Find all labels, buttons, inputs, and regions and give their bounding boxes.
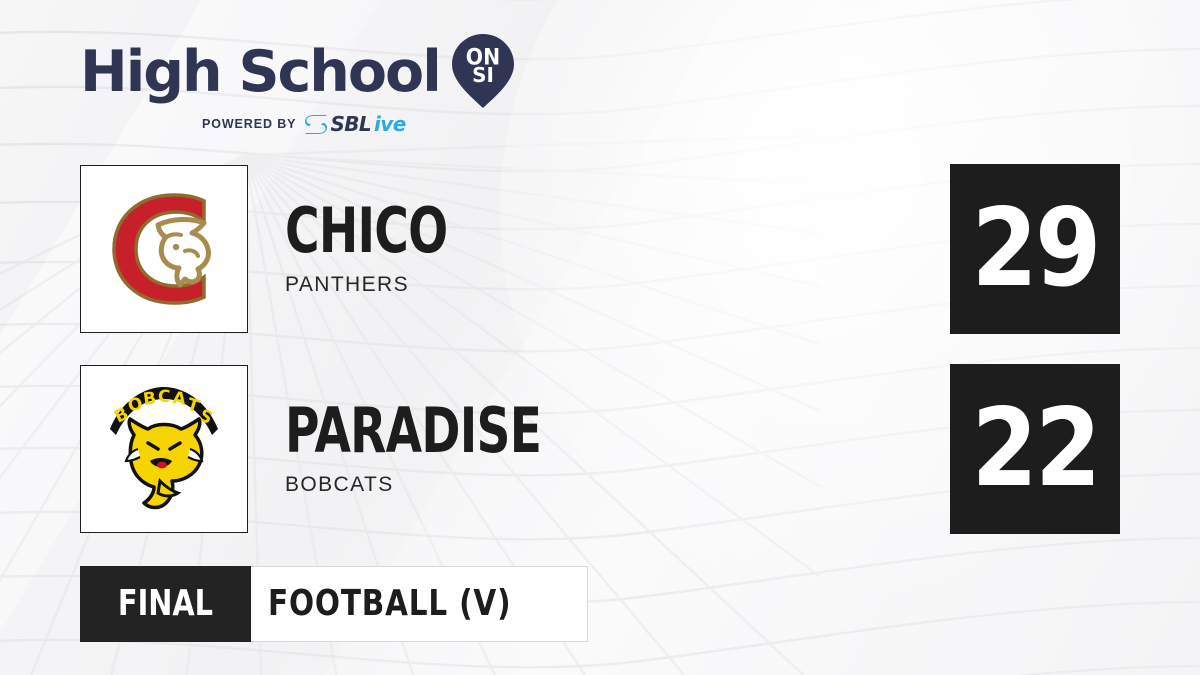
game-status-bar: FINAL FOOTBALL (V): [80, 566, 588, 642]
team-logo-card: [80, 165, 248, 333]
sblive-logo: SBLive: [305, 114, 405, 134]
team-score: 29: [972, 195, 1099, 303]
paradise-bobcats-logo-icon: B O B C A T S: [88, 373, 240, 525]
powered-by-label: POWERED BY: [202, 117, 296, 131]
svg-text:A: A: [171, 388, 188, 410]
sblive-dark-text: SBL: [330, 114, 371, 134]
chico-panthers-logo-icon: [88, 173, 240, 325]
team-text-block: CHICO PANTHERS: [285, 201, 499, 298]
powered-by-row: POWERED BY SBLive: [80, 114, 510, 134]
status-badge: FINAL: [80, 566, 251, 642]
sport-label: FOOTBALL (V): [268, 586, 511, 622]
on-si-pin-icon: ON SI: [452, 34, 514, 108]
brand-logo-row: High School ON SI: [80, 36, 510, 108]
team-score-box: 29: [950, 164, 1120, 334]
team-mascot: BOBCATS: [285, 473, 622, 497]
team-mascot: PANTHERS: [285, 273, 499, 297]
svg-text:SI: SI: [472, 63, 494, 87]
team-score: 22: [972, 395, 1099, 503]
brand-wordmark: High School: [80, 44, 440, 101]
sblive-blue-text: ive: [374, 114, 406, 134]
status-state-label: FINAL: [118, 586, 213, 622]
sblive-s-icon: [305, 115, 327, 134]
team-name: PARADISE: [285, 401, 541, 462]
svg-text:C: C: [158, 387, 171, 407]
scoreboard-graphic: High School ON SI POWERED BY SBLive: [0, 0, 1200, 675]
svg-text:B: B: [142, 388, 159, 410]
team-logo-card: B O B C A T S: [80, 365, 248, 533]
team-text-block: PARADISE BOBCATS: [285, 401, 622, 498]
sport-label-panel: FOOTBALL (V): [251, 566, 588, 642]
team-score-box: 22: [950, 364, 1120, 534]
brand-header: High School ON SI POWERED BY SBLive: [80, 36, 510, 134]
team-name: CHICO: [285, 201, 447, 262]
